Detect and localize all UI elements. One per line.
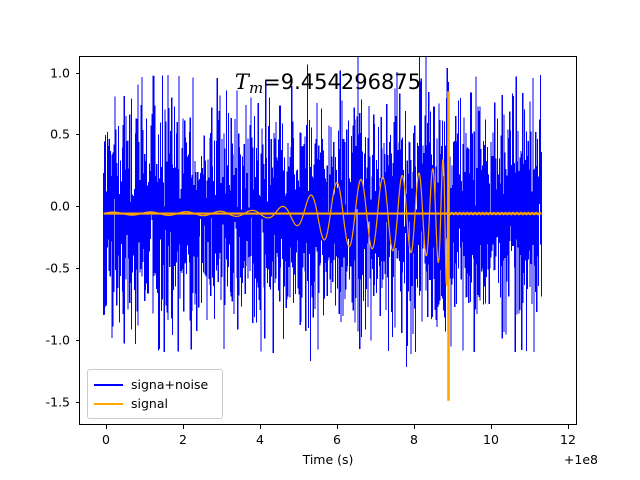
legend-label-signa-noise: signa+noise (131, 377, 208, 392)
xtick-mark (568, 425, 569, 429)
legend-item-signal[interactable]: signal (94, 394, 216, 413)
chart-title: Tm=9.454296875 (79, 70, 577, 97)
chart-title-variable: T (235, 70, 249, 94)
xtick-mark (260, 425, 261, 429)
legend-item-signa-noise[interactable]: signa+noise (94, 375, 216, 394)
xtick-label: 4 (256, 432, 264, 447)
legend-label-signal: signal (131, 396, 168, 411)
legend-swatch-signal (94, 403, 123, 405)
xtick-label: 2 (179, 432, 187, 447)
xtick-label: 10 (483, 432, 499, 447)
ytick-label: 0.0 (20, 199, 70, 214)
x-axis-offset-text: +1e8 (564, 452, 598, 467)
ytick-label: -0.5 (20, 261, 70, 276)
chart-title-value: =9.454296875 (263, 70, 421, 94)
ytick-label: -1.0 (20, 333, 70, 348)
xtick-mark (337, 425, 338, 429)
xtick-label: 8 (410, 432, 418, 447)
xtick-mark (491, 425, 492, 429)
series-signa-noise (104, 57, 542, 367)
xtick-mark (414, 425, 415, 429)
xtick-mark (183, 425, 184, 429)
legend-swatch-signa-noise (94, 384, 123, 386)
xtick-label: 0 (102, 432, 110, 447)
x-axis-label: Time (s) (79, 452, 577, 467)
chart-title-subscript: m (249, 79, 263, 97)
figure-canvas: 1.0 0.5 0.0 -0.5 -1.0 -1.5 0 2 4 6 8 10 … (0, 0, 640, 480)
ytick-label: 0.5 (20, 127, 70, 142)
ytick-label: 1.0 (20, 66, 70, 81)
legend-box[interactable]: signa+noise signal (87, 369, 223, 419)
xtick-label: 12 (560, 432, 576, 447)
xtick-mark (106, 425, 107, 429)
ytick-label: -1.5 (20, 395, 70, 410)
xtick-label: 6 (333, 432, 341, 447)
